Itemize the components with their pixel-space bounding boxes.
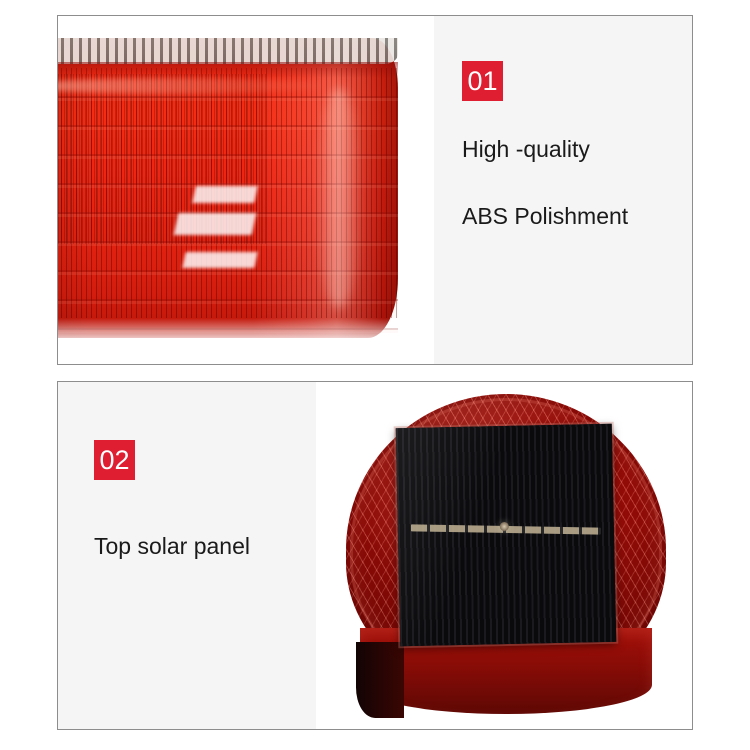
feature-text-line-2: ABS Polishment bbox=[462, 197, 692, 235]
beacon-skirt-shadow bbox=[356, 642, 404, 718]
feature-text-line-1: Top solar panel bbox=[94, 527, 344, 565]
solar-panel-image bbox=[336, 392, 676, 722]
product-photo-solar-panel bbox=[316, 382, 693, 729]
product-feature-page: 01 High -quality ABS Polishment 02 Top s… bbox=[0, 0, 750, 750]
feature-number-badge-02: 02 bbox=[94, 440, 135, 480]
beacon-lens-body bbox=[58, 38, 398, 338]
feature-callout-02: 02 Top solar panel bbox=[94, 440, 344, 565]
beacon-bottom-fade bbox=[58, 318, 398, 342]
beacon-top-cap bbox=[58, 38, 398, 64]
solar-cell-panel bbox=[396, 424, 617, 646]
solar-cell-sheen bbox=[396, 424, 540, 646]
feature-panel-01: 01 High -quality ABS Polishment bbox=[57, 15, 693, 365]
beacon-specular-highlight bbox=[182, 252, 257, 268]
beacon-edge-glow bbox=[316, 88, 362, 308]
feature-panel-02: 02 Top solar panel bbox=[57, 381, 693, 730]
beacon-cap-shadow bbox=[58, 62, 398, 78]
solar-busbar-node bbox=[499, 522, 508, 531]
feature-callout-01: 01 High -quality ABS Polishment bbox=[462, 61, 692, 235]
feature-number-badge-01: 01 bbox=[462, 61, 503, 101]
product-photo-beacon-lens bbox=[58, 16, 434, 364]
beacon-specular-highlight bbox=[174, 213, 257, 235]
beacon-lens-image bbox=[58, 38, 434, 342]
beacon-specular-highlight bbox=[192, 186, 258, 203]
feature-text-line-1: High -quality bbox=[462, 130, 692, 168]
